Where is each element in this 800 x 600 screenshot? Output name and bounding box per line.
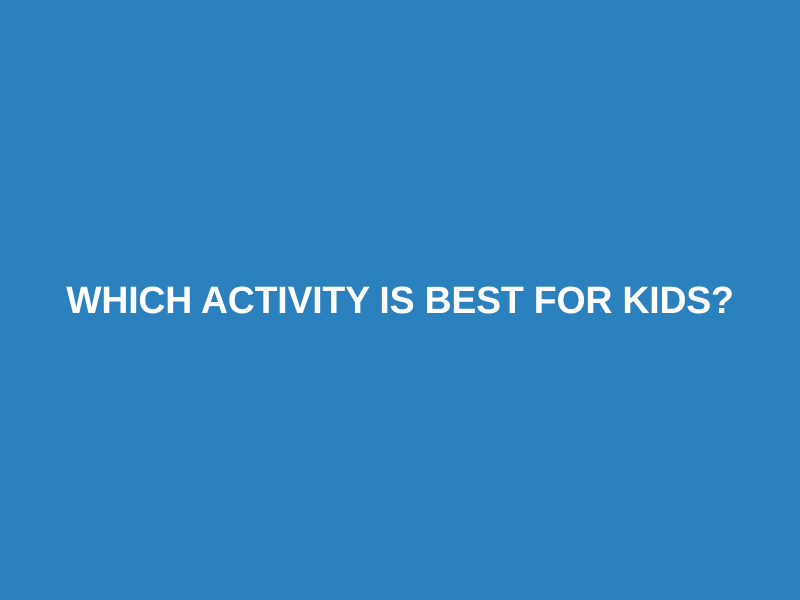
- page-title: WHICH ACTIVITY IS BEST FOR KIDS?: [6, 279, 794, 324]
- featured-image-card: WHICH ACTIVITY IS BEST FOR KIDS?: [0, 0, 800, 600]
